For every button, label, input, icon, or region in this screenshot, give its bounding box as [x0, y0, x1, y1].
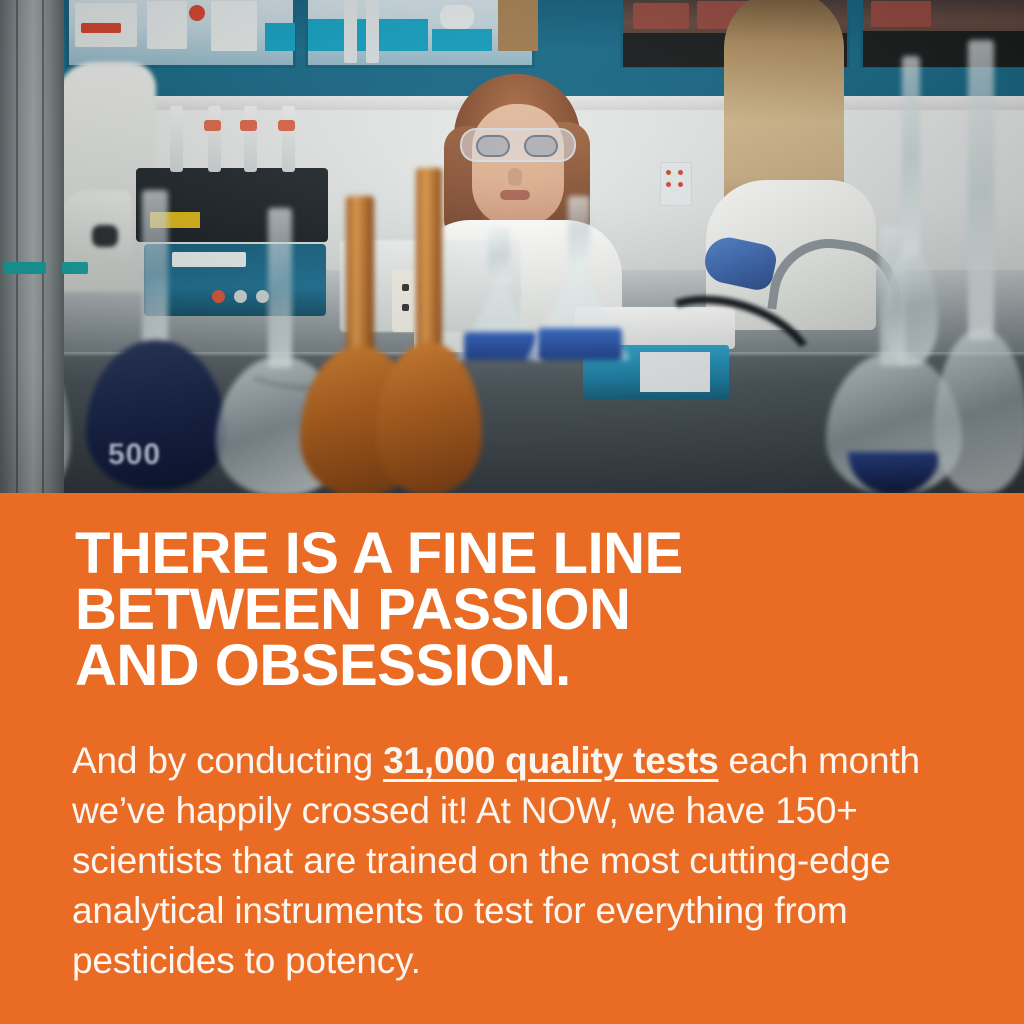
foreground-flask-right-2 — [934, 40, 1024, 493]
wall-indicator-dot — [678, 170, 683, 175]
flask-neck — [142, 190, 168, 360]
orange-content-panel: THERE IS A FINE LINE BETWEEN PASSION AND… — [0, 493, 1024, 1024]
cabinet-carton — [211, 1, 257, 51]
page-title: THERE IS A FINE LINE BETWEEN PASSION AND… — [75, 526, 975, 694]
post-seam — [42, 0, 44, 493]
flask-neck — [568, 196, 590, 266]
flask-neck — [268, 208, 292, 368]
cabinet-blue-fill — [432, 29, 492, 51]
cabinet-door-1 — [66, 0, 296, 68]
goggle-lens-right — [524, 135, 558, 157]
cabinet-carton — [440, 5, 474, 29]
shaker-tube — [208, 106, 221, 172]
flask-neck — [346, 196, 374, 366]
structural-post — [0, 0, 64, 493]
safety-goggles — [460, 128, 576, 162]
shaker-cap — [240, 120, 257, 131]
cabinet-cardboard-box — [498, 0, 538, 51]
flask-bulb — [934, 328, 1024, 493]
cabinet-red-label — [81, 23, 121, 33]
post-seam — [16, 0, 18, 493]
center-scientist-nose — [508, 168, 522, 186]
shaker-cap — [278, 120, 295, 131]
goggle-lens-left — [476, 135, 510, 157]
erlenmeyer-flask-bench — [524, 196, 634, 360]
cabinet-tube — [344, 0, 357, 63]
teal-accent-band — [4, 262, 46, 274]
cabinet-red-label — [189, 5, 205, 21]
flask-neck — [416, 168, 442, 364]
flask-bulb — [376, 342, 482, 493]
wall-indicator-dot — [678, 182, 683, 187]
wall-indicator-dot — [666, 170, 671, 175]
wall-indicator-dot — [666, 182, 671, 187]
headline-line-3: AND OBSESSION. — [75, 638, 975, 694]
laboratory-photo: 500 — [0, 0, 1024, 493]
shaker-tube — [244, 106, 257, 172]
body-text-before: And by conducting — [72, 740, 383, 781]
cabinet-red-bin — [633, 3, 689, 29]
shaker-tube — [170, 106, 183, 172]
headline-line-2: BETWEEN PASSION — [75, 582, 975, 638]
cabinet-carton — [147, 1, 187, 49]
shaker-tube — [282, 106, 295, 172]
headline-line-1: THERE IS A FINE LINE — [75, 526, 975, 582]
body-paragraph: And by conducting 31,000 quality tests e… — [72, 736, 952, 986]
flask-neck — [968, 40, 994, 340]
flask-blue-liquid — [538, 328, 622, 360]
flask-bulb — [884, 248, 938, 366]
quality-tests-emphasis: 31,000 quality tests — [383, 740, 718, 781]
shaker-cap — [204, 120, 221, 131]
cabinet-red-bin — [871, 1, 931, 27]
flask-volume-label: 500 — [108, 438, 161, 472]
foreground-flask-right-3 — [884, 56, 938, 386]
cabinet-door-2 — [305, 0, 535, 68]
promo-poster: 500 — [0, 0, 1024, 1024]
cabinet-blue-fill — [265, 23, 295, 51]
cabinet-tube — [366, 0, 379, 63]
flask-neck — [902, 56, 920, 256]
wall-outlet-plate — [660, 162, 692, 206]
teal-accent-band — [62, 262, 88, 274]
